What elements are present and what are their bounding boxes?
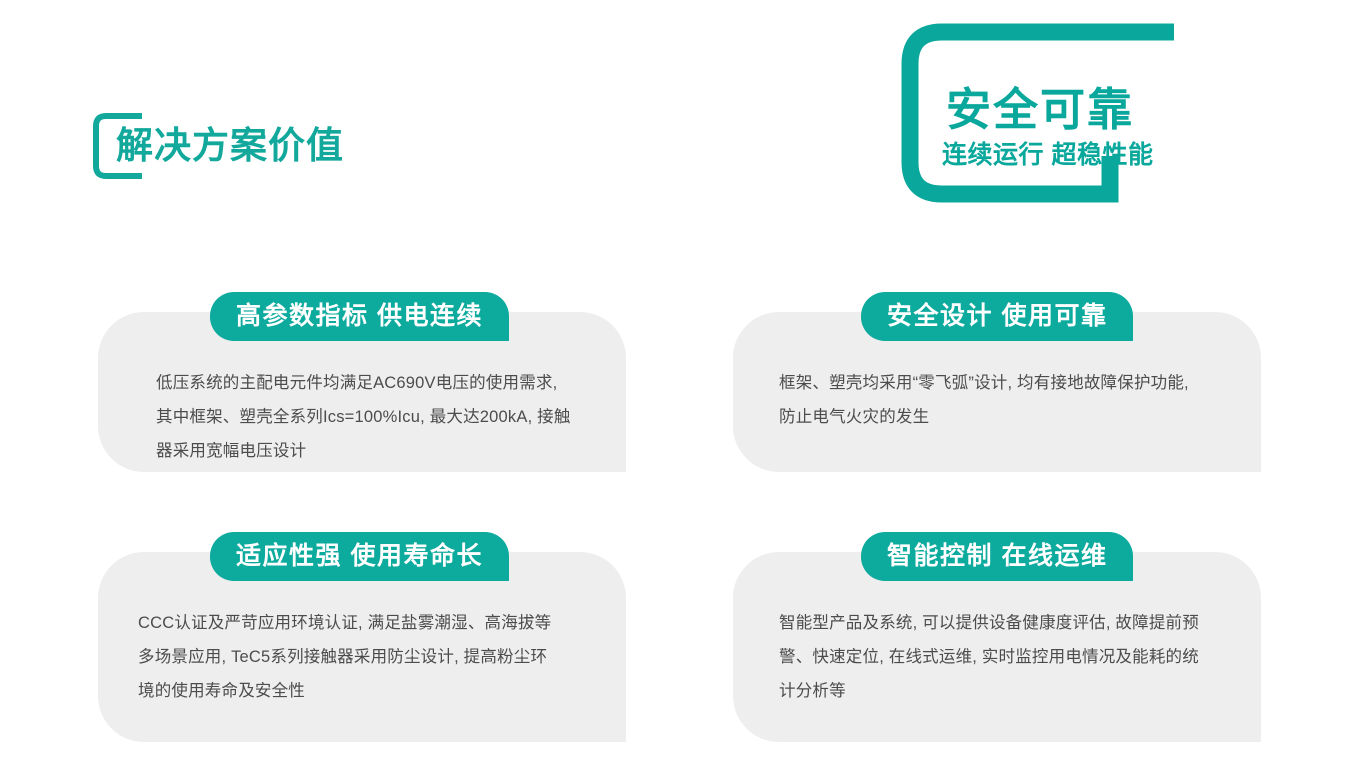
card-header-badge: 智能控制 在线运维 xyxy=(861,532,1133,581)
card-body-text: CCC认证及严苛应用环境认证, 满足盐雾潮湿、高海拔等多场景应用, TeC5系列… xyxy=(138,606,558,708)
card-body-text: 框架、塑壳均采用“零飞弧”设计, 均有接地故障保护功能, 防止电气火灾的发生 xyxy=(779,366,1199,434)
card-header-badge: 适应性强 使用寿命长 xyxy=(210,532,509,581)
section-title-block: 解决方案价值 xyxy=(92,112,512,192)
card-header-badge: 高参数指标 供电连续 xyxy=(210,292,509,341)
card-badge-label: 高参数指标 供电连续 xyxy=(236,292,483,341)
logo-subtitle: 连续运行 超稳性能 xyxy=(942,140,1192,170)
page-title: 解决方案价值 xyxy=(116,120,344,172)
card-badge-label: 智能控制 在线运维 xyxy=(887,532,1107,581)
logo-badge: 安全可靠 连续运行 超稳性能 xyxy=(896,18,1186,208)
card-badge-label: 安全设计 使用可靠 xyxy=(887,292,1107,341)
card-header-badge: 安全设计 使用可靠 xyxy=(861,292,1133,341)
card-body-text: 低压系统的主配电元件均满足AC690V电压的使用需求, 其中框架、塑壳全系列Ic… xyxy=(156,366,576,468)
logo-title: 安全可靠 xyxy=(946,84,1186,136)
page-root: 解决方案价值 安全可靠 连续运行 超稳性能 高参数指标 供电连续 低压系统的主配… xyxy=(0,0,1350,782)
card-body-text: 智能型产品及系统, 可以提供设备健康度评估, 故障提前预警、快速定位, 在线式运… xyxy=(779,606,1199,708)
card-badge-label: 适应性强 使用寿命长 xyxy=(236,532,483,581)
